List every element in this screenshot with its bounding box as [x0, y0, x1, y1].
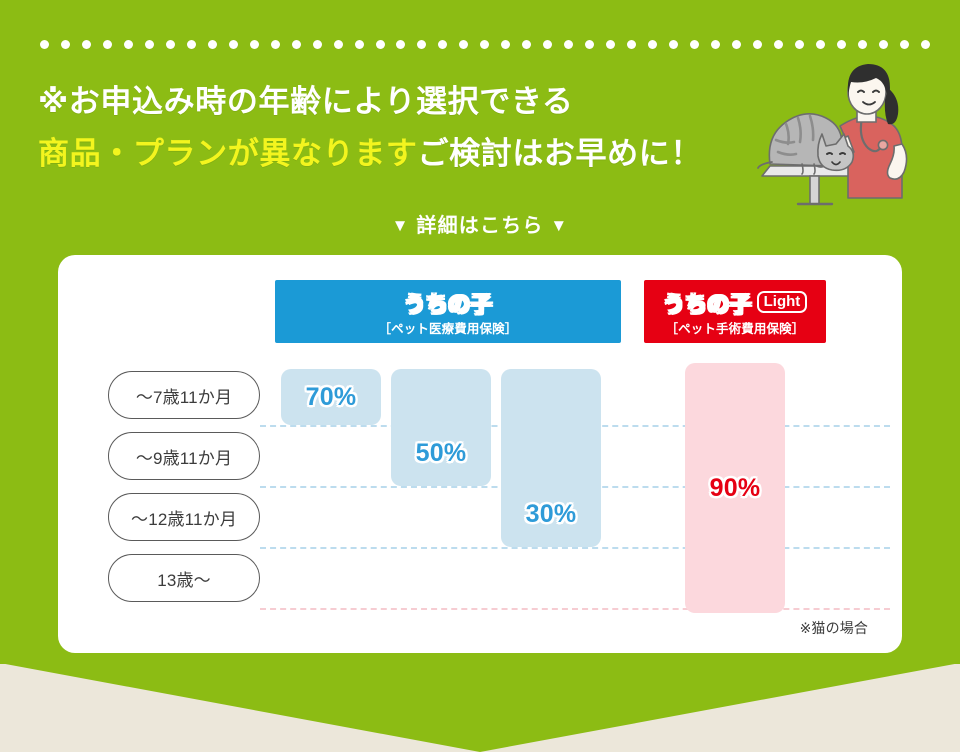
green-bottom-arrow	[0, 663, 960, 752]
triangle-right-icon: ▼	[550, 216, 568, 235]
age-row-label-3-text: ～12歳11か月	[131, 505, 237, 530]
headline-line-1: ※お申込み時の年齢により選択できる	[38, 76, 778, 128]
detail-cta[interactable]: ▼ 詳細はこちら ▼	[0, 209, 960, 238]
row-guide-4	[260, 608, 890, 610]
headline-highlight-text: 商品・プランが異なります	[38, 136, 417, 171]
age-row-label-2-text: ～9歳11か月	[136, 444, 232, 469]
row-guide-3	[260, 547, 890, 549]
coverage-bar-30: 30%	[501, 369, 601, 547]
headline-line-2: 商品・プランが異なりますご検討はお早めに！	[38, 128, 778, 180]
coverage-bar-70-label: 70%	[306, 385, 357, 410]
coverage-bar-50: 50%	[391, 369, 491, 486]
coverage-bar-30-label: 30%	[526, 502, 577, 527]
age-row-label-3: ～12歳11か月	[108, 493, 260, 541]
screenshot-root: ※お申込み時の年齢により選択できる 商品・プランが異なりますご検討はお早めに！	[0, 0, 960, 752]
headline-line-1-text: ※お申込み時の年齢により選択できる	[38, 84, 573, 119]
age-row-label-4: 13歳～	[108, 554, 260, 602]
detail-cta-label: 詳細はこちら	[416, 215, 543, 237]
age-row-label-4-text: 13歳～	[157, 566, 211, 591]
chart-footnote: ※猫の場合	[800, 618, 868, 638]
age-row-label-1-text: ～7歳11か月	[136, 383, 232, 408]
comparison-card: うちの子 ［ペット医療費用保険］ うちの子 Light ［ペット手術費用保険］ …	[58, 255, 902, 653]
age-row-label-2: ～9歳11か月	[108, 432, 260, 480]
triangle-left-icon: ▼	[392, 216, 410, 235]
veterinarian-with-cat-icon	[752, 52, 960, 212]
dotted-divider	[40, 40, 930, 49]
headline-line-2-rest: ご検討はお早めに！	[417, 136, 702, 171]
age-row-label-1: ～7歳11か月	[108, 371, 260, 419]
headline-block: ※お申込み時の年齢により選択できる 商品・プランが異なりますご検討はお早めに！	[38, 76, 778, 180]
coverage-bar-70: 70%	[281, 369, 381, 425]
coverage-bar-90-label: 90%	[710, 476, 761, 501]
coverage-bar-90: 90%	[685, 363, 785, 613]
coverage-chart: ～7歳11か月 ～9歳11か月 ～12歳11か月 13歳～ 70% 50% 30…	[58, 255, 902, 653]
coverage-bar-50-label: 50%	[416, 441, 467, 466]
